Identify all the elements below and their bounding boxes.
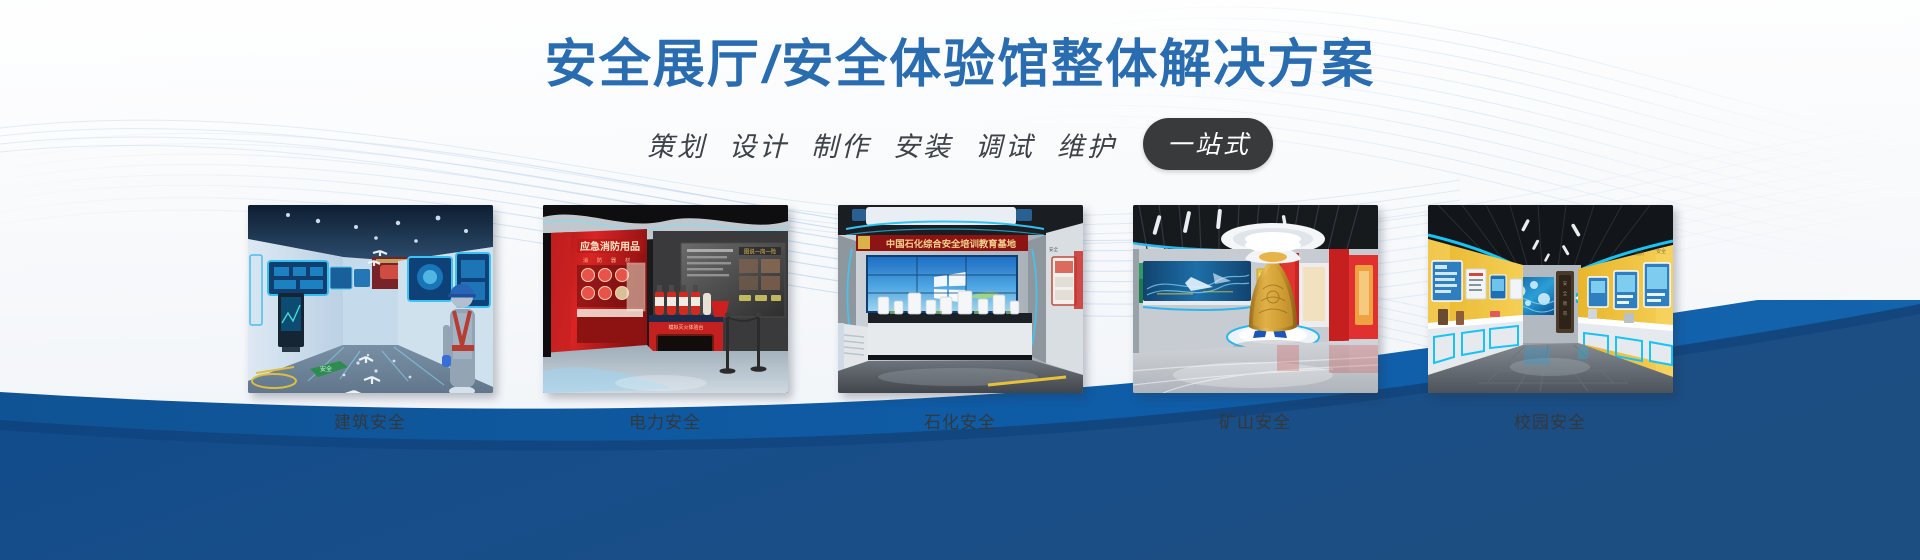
svg-text:育: 育: [1562, 310, 1567, 317]
svg-text:应急消防用品: 应急消防用品: [580, 240, 640, 253]
svg-text:安: 安: [1562, 280, 1567, 287]
svg-text:安全: 安全: [1656, 248, 1666, 255]
thumbnail-electric[interactable]: 图说一岗一险 应急消防用品: [543, 205, 788, 393]
page-title-separator: /: [761, 36, 781, 94]
image-golden-bell-hall: [1133, 205, 1378, 393]
svg-text:中国石化综合安全培训教育基地: 中国石化综合安全培训教育基地: [885, 238, 1016, 249]
one-stop-badge: 一站式: [1143, 118, 1273, 170]
svg-text:模拟灭火体验台: 模拟灭火体验台: [668, 324, 703, 331]
image-red-fire-display: 图说一岗一险 应急消防用品: [543, 205, 788, 393]
gallery-item-mining[interactable]: 矿山安全: [1133, 205, 1378, 433]
image-blue-corridor: 安全: [248, 205, 493, 393]
caption-campus: 校园安全: [1428, 408, 1673, 433]
image-school-safety-hall: 安 全 教 育: [1428, 205, 1673, 393]
gallery-item-campus[interactable]: 安 全 教 育: [1428, 205, 1673, 433]
svg-text:消: 消: [583, 257, 588, 264]
svg-text:防: 防: [597, 257, 602, 264]
caption-mining: 矿山安全: [1133, 408, 1378, 433]
image-led-video-wall: 中国石化综合安全培训教育基地: [838, 205, 1083, 393]
service-step-planning: 策划: [647, 125, 707, 164]
page-title-part-2: 安全体验馆整体解决方案: [781, 36, 1375, 94]
gallery-item-construction[interactable]: 安全: [248, 205, 493, 433]
gallery-item-petrochemical[interactable]: 中国石化综合安全培训教育基地: [838, 205, 1083, 433]
thumbnail-petrochemical[interactable]: 中国石化综合安全培训教育基地: [838, 205, 1083, 393]
safety-exhibition-banner: 安全展厅/安全体验馆整体解决方案 策划 设计 制作 安装 调试 维护 一站式: [0, 0, 1920, 560]
service-steps-row: 策划 设计 制作 安装 调试 维护 一站式: [0, 118, 1920, 170]
thumbnail-campus[interactable]: 安 全 教 育: [1428, 205, 1673, 393]
service-step-maintenance: 维护: [1057, 125, 1117, 164]
gallery-item-electric[interactable]: 图说一岗一险 应急消防用品: [543, 205, 788, 433]
svg-text:器: 器: [611, 258, 616, 264]
svg-text:消防: 消防: [1634, 250, 1644, 257]
service-step-installation: 安装: [893, 125, 953, 164]
svg-text:安全: 安全: [1049, 246, 1058, 253]
service-step-debugging: 调试: [975, 125, 1035, 164]
caption-petrochemical: 石化安全: [838, 408, 1083, 433]
thumbnail-mining[interactable]: [1133, 205, 1378, 393]
page-title: 安全展厅/安全体验馆整体解决方案: [0, 22, 1920, 97]
svg-text:图说一岗一险: 图说一岗一险: [743, 248, 776, 256]
service-step-design: 设计: [729, 125, 789, 164]
caption-construction: 建筑安全: [248, 408, 493, 433]
svg-text:教: 教: [1562, 300, 1567, 307]
caption-electric: 电力安全: [543, 408, 788, 433]
gallery-row: 安全: [0, 205, 1920, 433]
service-step-production: 制作: [811, 125, 871, 164]
thumbnail-construction[interactable]: 安全: [248, 205, 493, 393]
page-title-part-1: 安全展厅: [545, 36, 761, 94]
svg-text:全: 全: [1562, 290, 1567, 296]
